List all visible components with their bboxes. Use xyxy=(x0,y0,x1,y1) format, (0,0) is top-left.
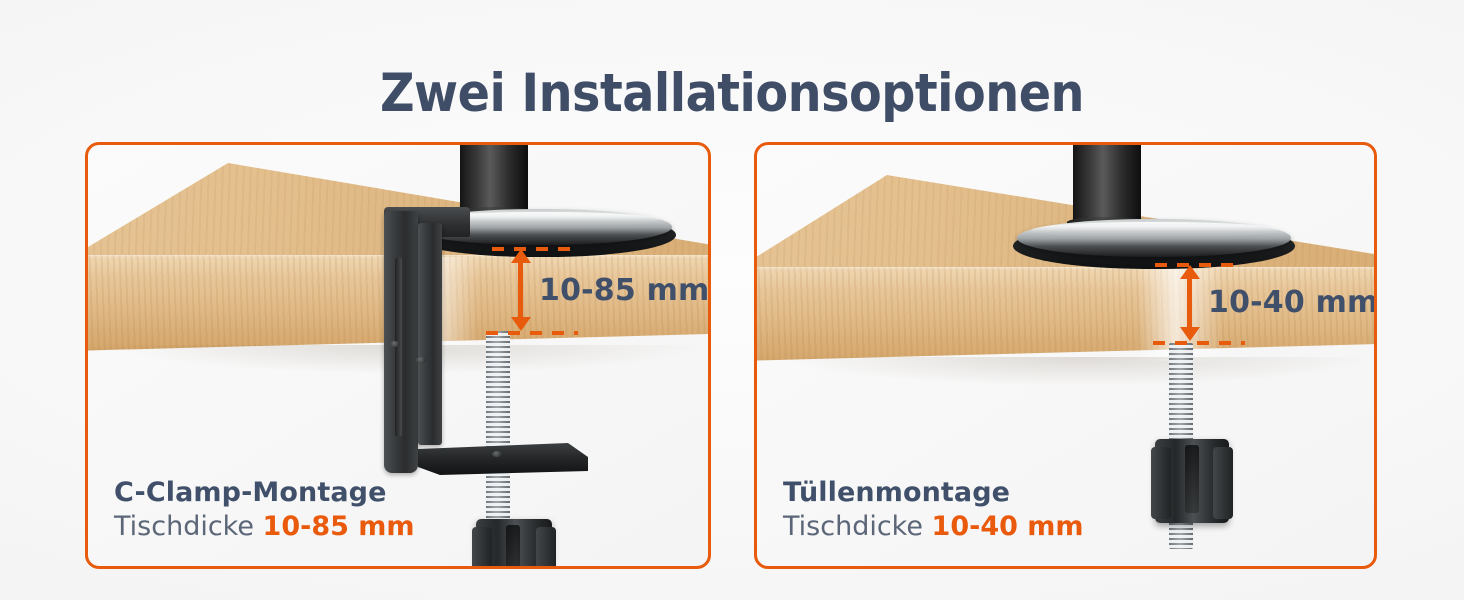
panel-c-clamp-mount: 10-85 mm C-Clamp-Montage Tischdicke 10-8… xyxy=(85,142,711,569)
dimension-guide-top xyxy=(492,247,576,251)
caption-value: 10-40 mm xyxy=(932,511,1084,542)
page-title: Zwei Installationsoptionen xyxy=(0,63,1464,124)
dimension-guide-bottom xyxy=(486,331,578,335)
caption-subtitle: Tischdicke 10-40 mm xyxy=(783,510,1084,544)
dimension-guide-bottom xyxy=(1153,341,1245,345)
dimension-line xyxy=(1187,273,1192,333)
caption-prefix: Tischdicke xyxy=(783,511,932,542)
dimension-label: 10-85 mm xyxy=(539,273,710,308)
illustration-c-clamp: 10-85 mm C-Clamp-Montage Tischdicke 10-8… xyxy=(88,145,708,566)
caption-title: C-Clamp-Montage xyxy=(114,477,415,510)
caption-subtitle: Tischdicke 10-85 mm xyxy=(114,510,415,544)
dimension-arrow-down xyxy=(1180,327,1200,341)
caption-title: Tüllenmontage xyxy=(783,477,1084,510)
panel-grommet-mount: 10-40 mm Tüllenmontage Tischdicke 10-40 … xyxy=(754,142,1377,569)
dimension-arrow-down xyxy=(511,317,531,331)
illustration-grommet: 10-40 mm Tüllenmontage Tischdicke 10-40 … xyxy=(757,145,1374,566)
dimension-line xyxy=(518,257,523,323)
dimension-label: 10-40 mm xyxy=(1208,285,1377,320)
caption-grommet: Tüllenmontage Tischdicke 10-40 mm xyxy=(783,477,1084,544)
caption-value: 10-85 mm xyxy=(263,511,415,542)
caption-prefix: Tischdicke xyxy=(114,511,263,542)
caption-c-clamp: C-Clamp-Montage Tischdicke 10-85 mm xyxy=(114,477,415,544)
